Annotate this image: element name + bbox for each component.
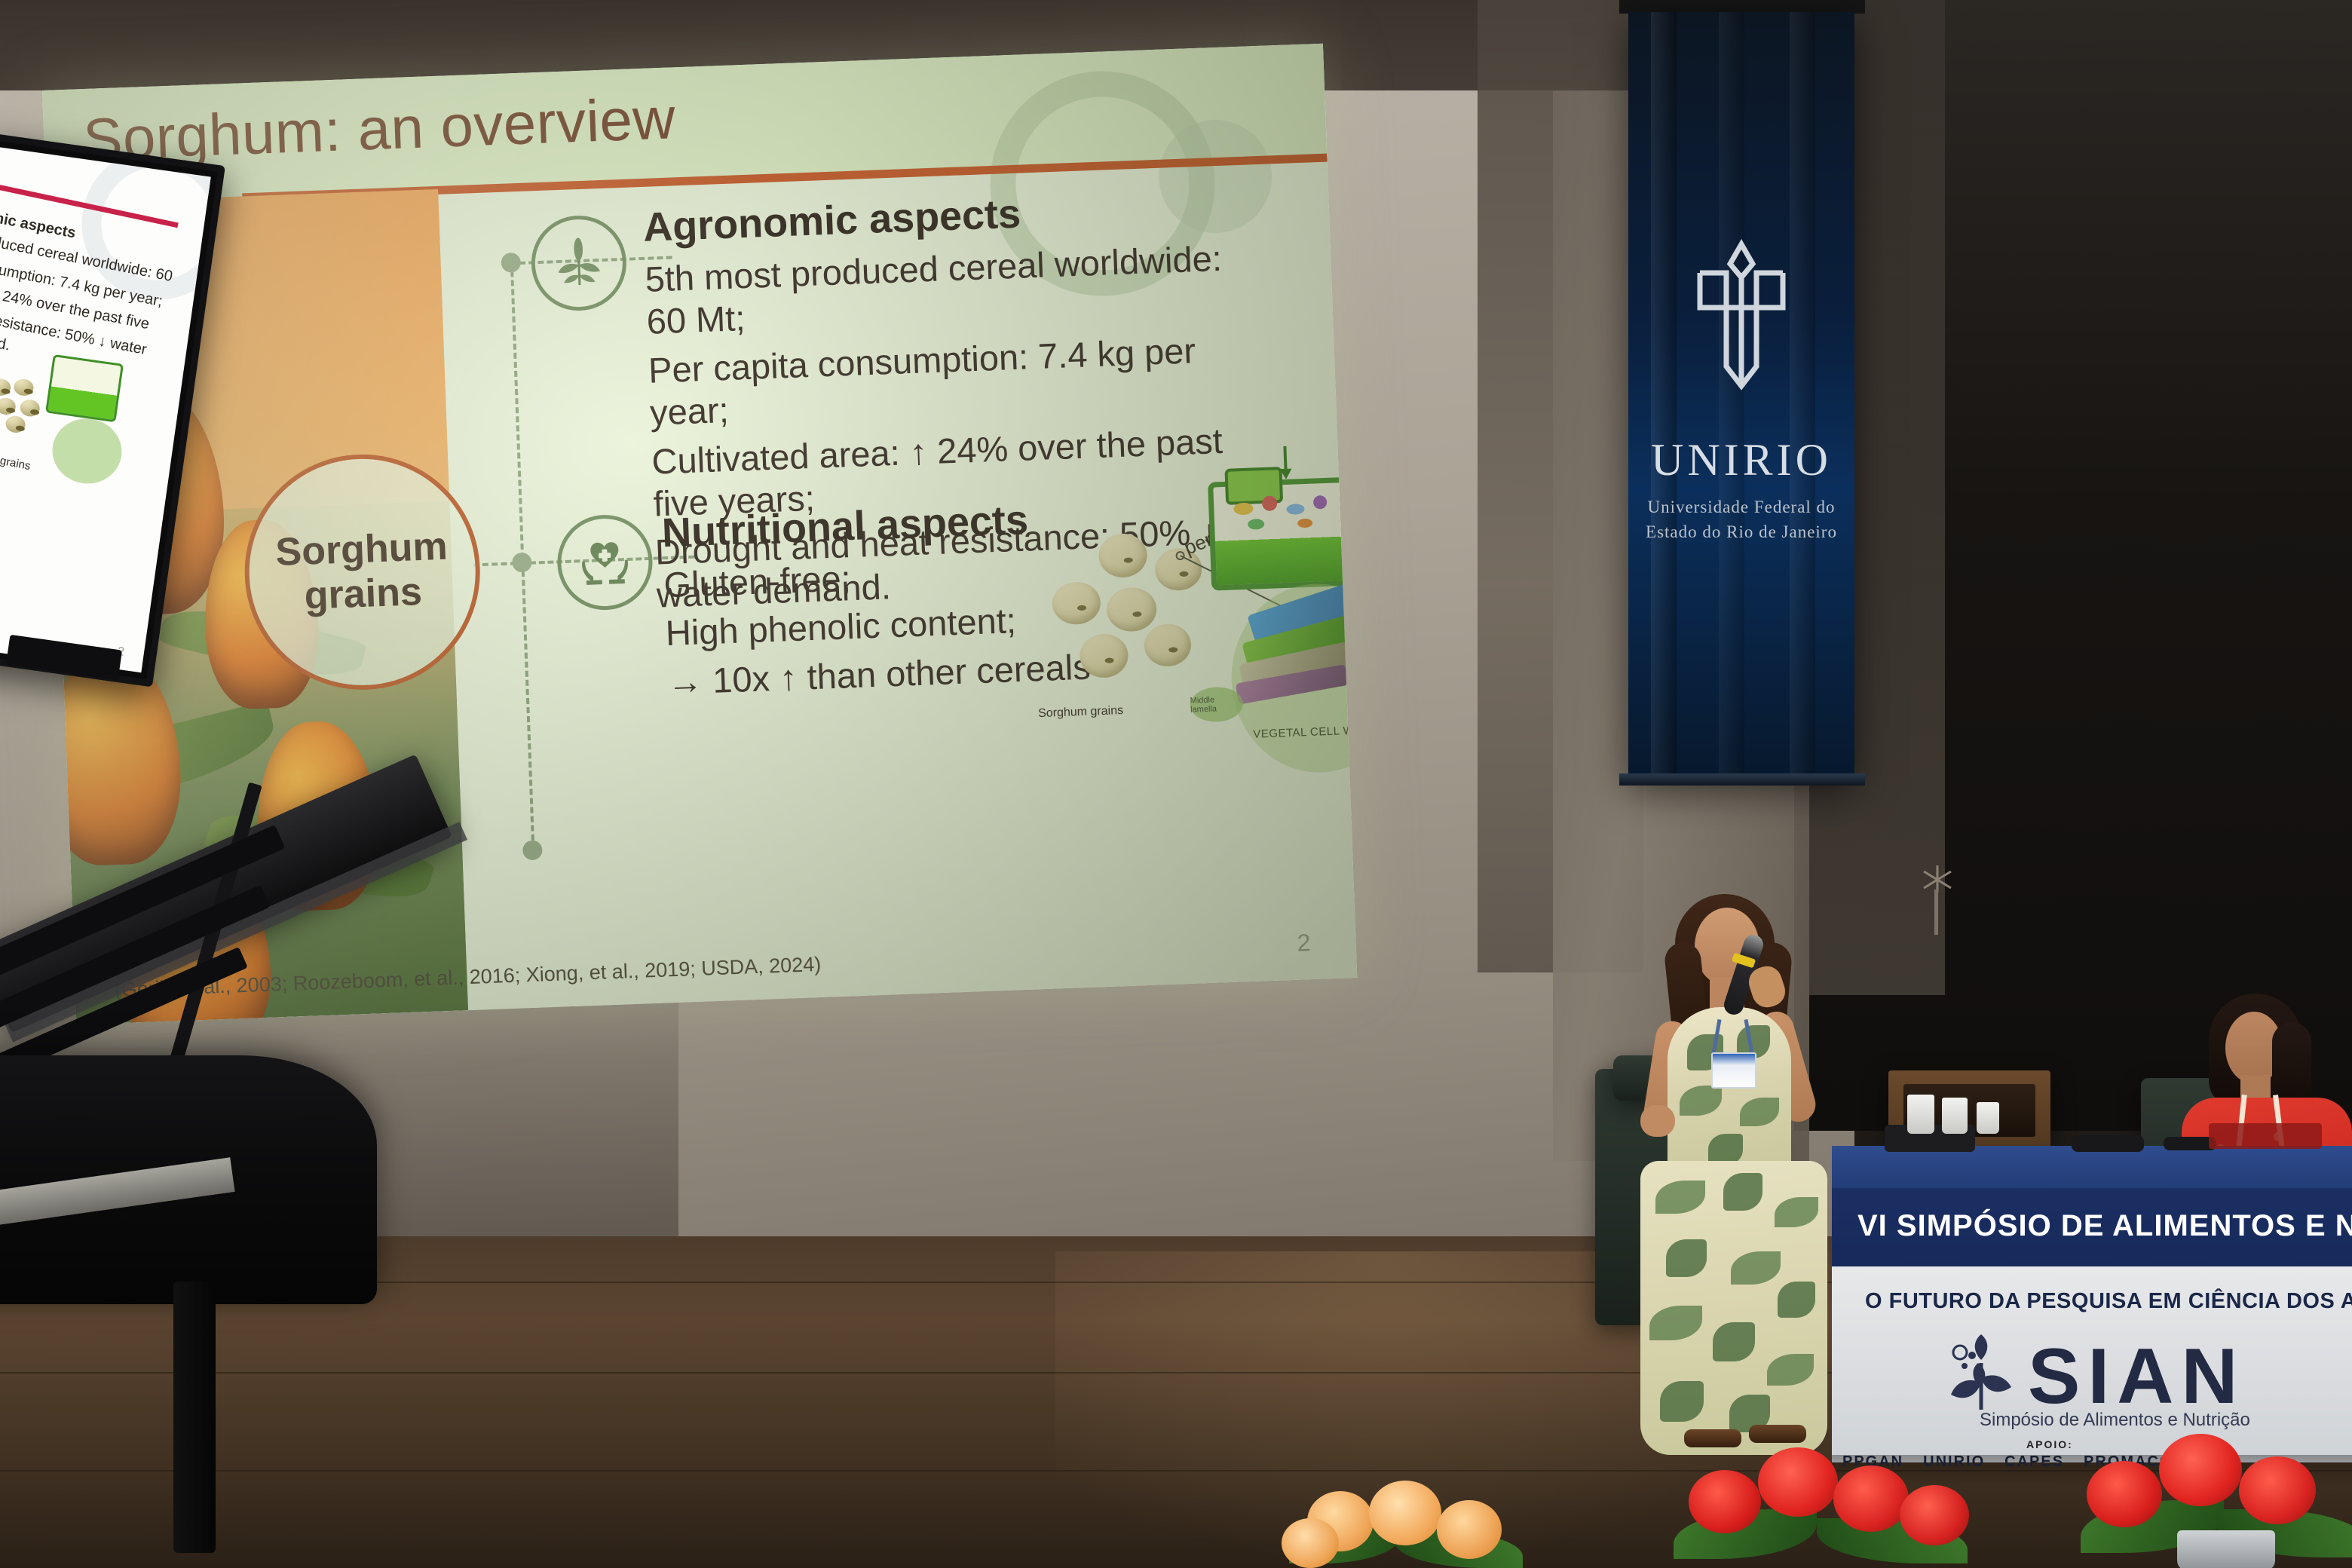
flower-arrangement-red-right [2081, 1417, 2352, 1568]
connector-node [522, 840, 543, 860]
red-cloth-item [2209, 1123, 2322, 1149]
banner-bottom-rail [1619, 773, 1865, 786]
unirio-banner: UNIRIO Universidade Federal do Estado do… [1628, 12, 1854, 781]
support-label: APOIO: [2026, 1438, 2073, 1450]
flower-arrangement-red [1674, 1437, 2005, 1568]
water-glass [1977, 1102, 1999, 1134]
monitor-line-7: t; Sorghum grains [0, 442, 32, 475]
sorghum-plant-icon [530, 214, 629, 313]
paper-cup [1942, 1098, 1968, 1134]
paper-cup [1907, 1095, 1934, 1134]
table-banner-blue-band: VI SIMPÓSIO DE ALIMENTOS E NU [1832, 1188, 2352, 1268]
head-table: VI SIMPÓSIO DE ALIMENTOS E NU O FUTURO D… [1832, 1146, 2352, 1462]
plant-cell-diagram: Middle lamella Primary cell wall Cellulo… [1165, 454, 1357, 779]
monitor-grains-thumb [0, 374, 53, 435]
sprout-dna-icon [1945, 1330, 2017, 1413]
conference-photo: Sorghum: an overview [0, 0, 2352, 1568]
connector-node [512, 553, 532, 573]
nutritional-line-3: → 10x ↑ than other cereals [666, 645, 1091, 703]
sian-logo: SIAN [1945, 1330, 2245, 1413]
monitor-cellwall-thumb [48, 414, 126, 488]
unirio-trident-icon [1685, 238, 1798, 412]
monitor-cell-thumb [45, 354, 124, 422]
center-node-label: Sorghum grains [248, 523, 477, 620]
piano-leg [173, 1282, 216, 1553]
banner-subtitle-line2: Estado do Rio de Janeiro [1628, 519, 1854, 544]
banner-subtitle-line1: Universidade Federal do [1628, 495, 1854, 519]
sconce-stem [1934, 890, 1938, 935]
presenter-left-hand [1640, 1105, 1675, 1137]
slide-page-number: 2 [1297, 929, 1311, 957]
middle-lamella-label: Middle lamella [1190, 694, 1243, 715]
agronomic-line-2: Per capita consumption: 7.4 kg per year; [648, 327, 1254, 434]
connector-node [501, 253, 521, 273]
sian-wordmark: SIAN [2028, 1342, 2245, 1413]
banner-title: UNIRIO [1628, 434, 1854, 486]
presenter-badge [1711, 1052, 1756, 1089]
heart-in-hands-icon [556, 513, 654, 612]
grains-figure-caption: Sorghum grains [1038, 704, 1124, 721]
symposium-title: VI SIMPÓSIO DE ALIMENTOS E NU [1857, 1209, 2352, 1243]
agronomic-line-1: 5th most produced cereal worldwide: 60 M… [645, 237, 1251, 344]
presenter-dress-skirt [1640, 1161, 1827, 1455]
table-microphone [2072, 1135, 2144, 1152]
flower-arrangement-orange [1282, 1478, 1598, 1568]
symposium-theme: O FUTURO DA PESQUISA EM CIÊNCIA DOS AL [1865, 1289, 2352, 1314]
